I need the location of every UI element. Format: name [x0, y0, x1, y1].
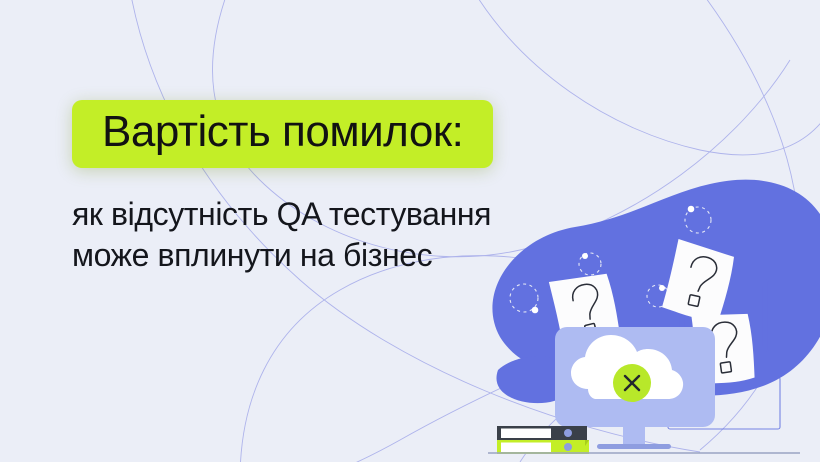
monitor-base: [597, 444, 671, 449]
qa-testing-error-illustration: [480, 172, 820, 462]
error-badge-icon: [613, 364, 651, 402]
binder-stack: [497, 426, 589, 454]
page-title: Вартість помилок:: [102, 107, 463, 156]
title-highlight-pill: Вартість помилок:: [72, 100, 493, 168]
binder-top: [497, 426, 587, 440]
binder-bottom: [497, 440, 589, 454]
banner-canvas: Вартість помилок: як відсутність QA тест…: [0, 0, 820, 462]
